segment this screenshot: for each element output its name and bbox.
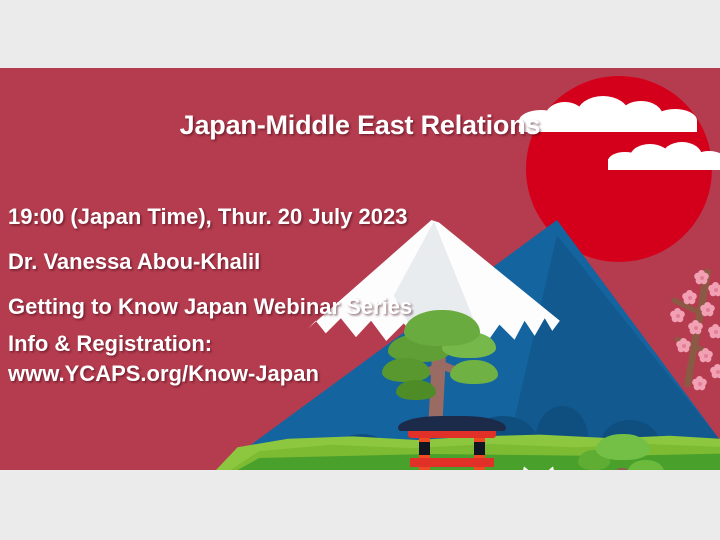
page-title: Japan-Middle East Relations <box>0 110 720 141</box>
registration-label-line: Info & Registration: <box>8 329 412 359</box>
speaker-name-line: Dr. Vanessa Abou-Khalil <box>8 239 412 284</box>
event-datetime-line: 19:00 (Japan Time), Thur. 20 July 2023 <box>8 194 412 239</box>
letterbox-bar-top <box>0 0 720 68</box>
series-name-line: Getting to Know Japan Webinar Series <box>8 284 412 329</box>
event-details-block: 19:00 (Japan Time), Thur. 20 July 2023 D… <box>8 194 412 389</box>
cloud-lower-icon <box>608 142 720 170</box>
letterbox-bar-bottom <box>0 470 720 540</box>
bonsai-tree-potted-icon <box>574 432 680 470</box>
promotional-webinar-graphic: Japan-Middle East Relations 19:00 (Japan… <box>0 0 720 540</box>
torii-gate-icon <box>398 416 506 470</box>
red-banner-background: Japan-Middle East Relations 19:00 (Japan… <box>0 68 720 470</box>
registration-url-line: www.YCAPS.org/Know-Japan <box>8 359 412 389</box>
